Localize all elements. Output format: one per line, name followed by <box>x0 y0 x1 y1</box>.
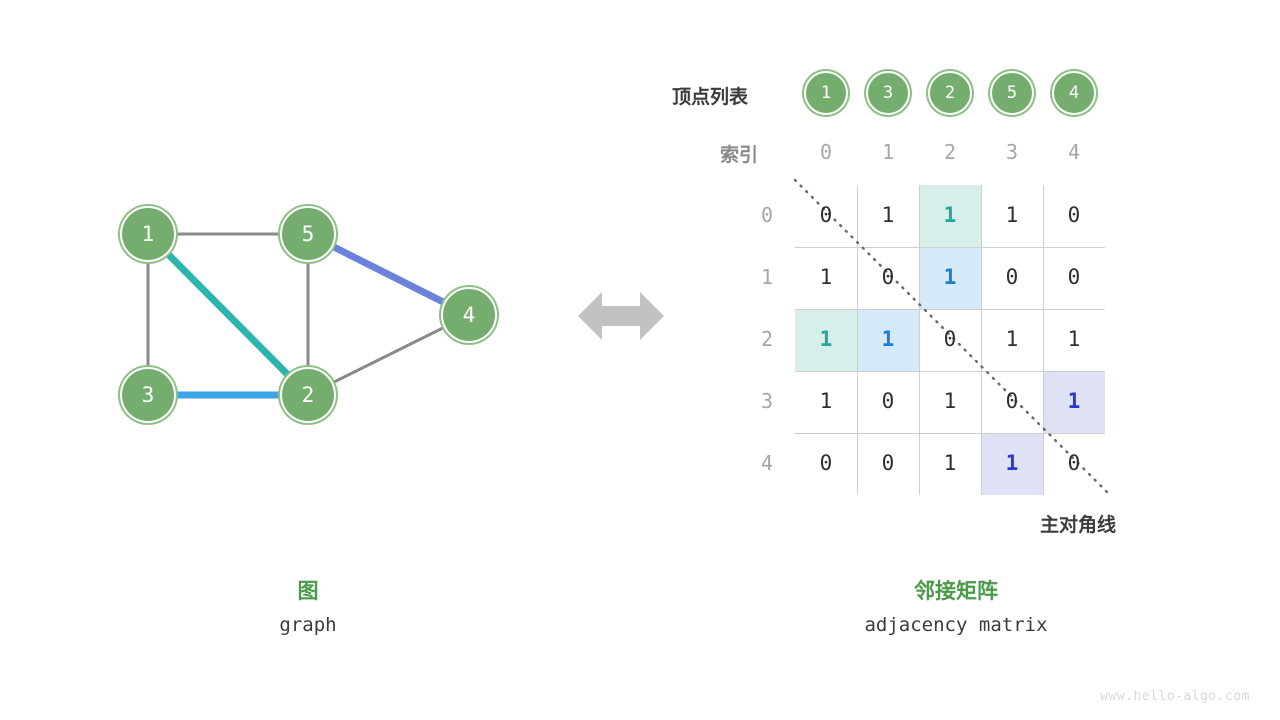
row-index-1: 1 <box>733 265 773 289</box>
vertex-chip-3[interactable]: 5 <box>990 71 1034 115</box>
graph-node-label: 4 <box>463 303 476 327</box>
matrix-caption-cn: 邻接矩阵 <box>856 575 1056 605</box>
vertex-chip-label: 1 <box>821 83 831 103</box>
vertex-chip-label: 5 <box>1007 83 1017 103</box>
matrix-cell-r2-c0[interactable]: 1 <box>795 327 857 351</box>
matrix-cell-r4-c3[interactable]: 1 <box>981 451 1043 475</box>
matrix-cell-r3-c2[interactable]: 1 <box>919 389 981 413</box>
vertex-list-label: 顶点列表 <box>672 82 748 109</box>
graph-caption-cn: 图 <box>208 575 408 605</box>
vertex-chip-1[interactable]: 3 <box>866 71 910 115</box>
graph-node-1[interactable]: 1 <box>120 206 176 262</box>
matrix-cell-r4-c0[interactable]: 0 <box>795 451 857 475</box>
main-diagonal-label: 主对角线 <box>1040 510 1116 537</box>
column-index-1: 1 <box>857 140 919 164</box>
graph-panel: 15432 <box>0 0 560 560</box>
index-label: 索引 <box>720 140 758 167</box>
matrix-cell-r4-c1[interactable]: 0 <box>857 451 919 475</box>
graph-node-3[interactable]: 3 <box>120 367 176 423</box>
graph-node-label: 2 <box>302 383 315 407</box>
matrix-caption-en: adjacency matrix <box>806 614 1106 636</box>
matrix-cell-r3-c1[interactable]: 0 <box>857 389 919 413</box>
matrix-cell-r2-c2[interactable]: 0 <box>919 327 981 351</box>
column-index-4: 4 <box>1043 140 1105 164</box>
figure-canvas: 15432 图 graph 顶点列表 13254 索引 01234 01234 … <box>0 0 1280 720</box>
graph-node-2[interactable]: 2 <box>280 367 336 423</box>
matrix-cell-r3-c0[interactable]: 1 <box>795 389 857 413</box>
row-index-3: 3 <box>733 389 773 413</box>
vertex-chip-0[interactable]: 1 <box>804 71 848 115</box>
matrix-cell-r1-c3[interactable]: 0 <box>981 265 1043 289</box>
graph-node-label: 1 <box>142 222 155 246</box>
matrix-cell-r2-c1[interactable]: 1 <box>857 327 919 351</box>
matrix-cell-r1-c4[interactable]: 0 <box>1043 265 1105 289</box>
adjacency-matrix-panel: 顶点列表 13254 索引 01234 01234 01110101001101… <box>640 0 1280 560</box>
matrix-cell-r3-c4[interactable]: 1 <box>1043 389 1105 413</box>
graph-node-label: 3 <box>142 383 155 407</box>
matrix-cell-r0-c3[interactable]: 1 <box>981 203 1043 227</box>
graph-node-5[interactable]: 5 <box>280 206 336 262</box>
matrix-cell-r4-c4[interactable]: 0 <box>1043 451 1105 475</box>
vertex-chip-label: 4 <box>1069 83 1079 103</box>
matrix-cell-r1-c2[interactable]: 1 <box>919 265 981 289</box>
grid-line-horizontal <box>795 371 1105 372</box>
watermark: www.hello-algo.com <box>1100 689 1250 704</box>
grid-line-horizontal <box>795 309 1105 310</box>
graph-edges-layer <box>0 0 560 560</box>
matrix-cell-r0-c0[interactable]: 0 <box>795 203 857 227</box>
vertex-chip-2[interactable]: 2 <box>928 71 972 115</box>
graph-node-label: 5 <box>302 222 315 246</box>
matrix-cell-r0-c4[interactable]: 0 <box>1043 203 1105 227</box>
row-index-0: 0 <box>733 203 773 227</box>
matrix-cell-r0-c1[interactable]: 1 <box>857 203 919 227</box>
graph-edge <box>148 234 308 395</box>
row-index-4: 4 <box>733 451 773 475</box>
column-index-0: 0 <box>795 140 857 164</box>
graph-caption-en: graph <box>208 614 408 636</box>
row-index-2: 2 <box>733 327 773 351</box>
matrix-cell-r1-c1[interactable]: 0 <box>857 265 919 289</box>
vertex-chip-label: 3 <box>883 83 893 103</box>
matrix-cell-r1-c0[interactable]: 1 <box>795 265 857 289</box>
matrix-cell-r2-c3[interactable]: 1 <box>981 327 1043 351</box>
matrix-cell-r3-c3[interactable]: 0 <box>981 389 1043 413</box>
matrix-cell-r2-c4[interactable]: 1 <box>1043 327 1105 351</box>
matrix-cell-r0-c2[interactable]: 1 <box>919 203 981 227</box>
vertex-chip-label: 2 <box>945 83 955 103</box>
column-index-3: 3 <box>981 140 1043 164</box>
matrix-cell-r4-c2[interactable]: 1 <box>919 451 981 475</box>
vertex-chip-4[interactable]: 4 <box>1052 71 1096 115</box>
column-index-2: 2 <box>919 140 981 164</box>
graph-node-4[interactable]: 4 <box>441 287 497 343</box>
grid-line-horizontal <box>795 433 1105 434</box>
grid-line-horizontal <box>795 247 1105 248</box>
